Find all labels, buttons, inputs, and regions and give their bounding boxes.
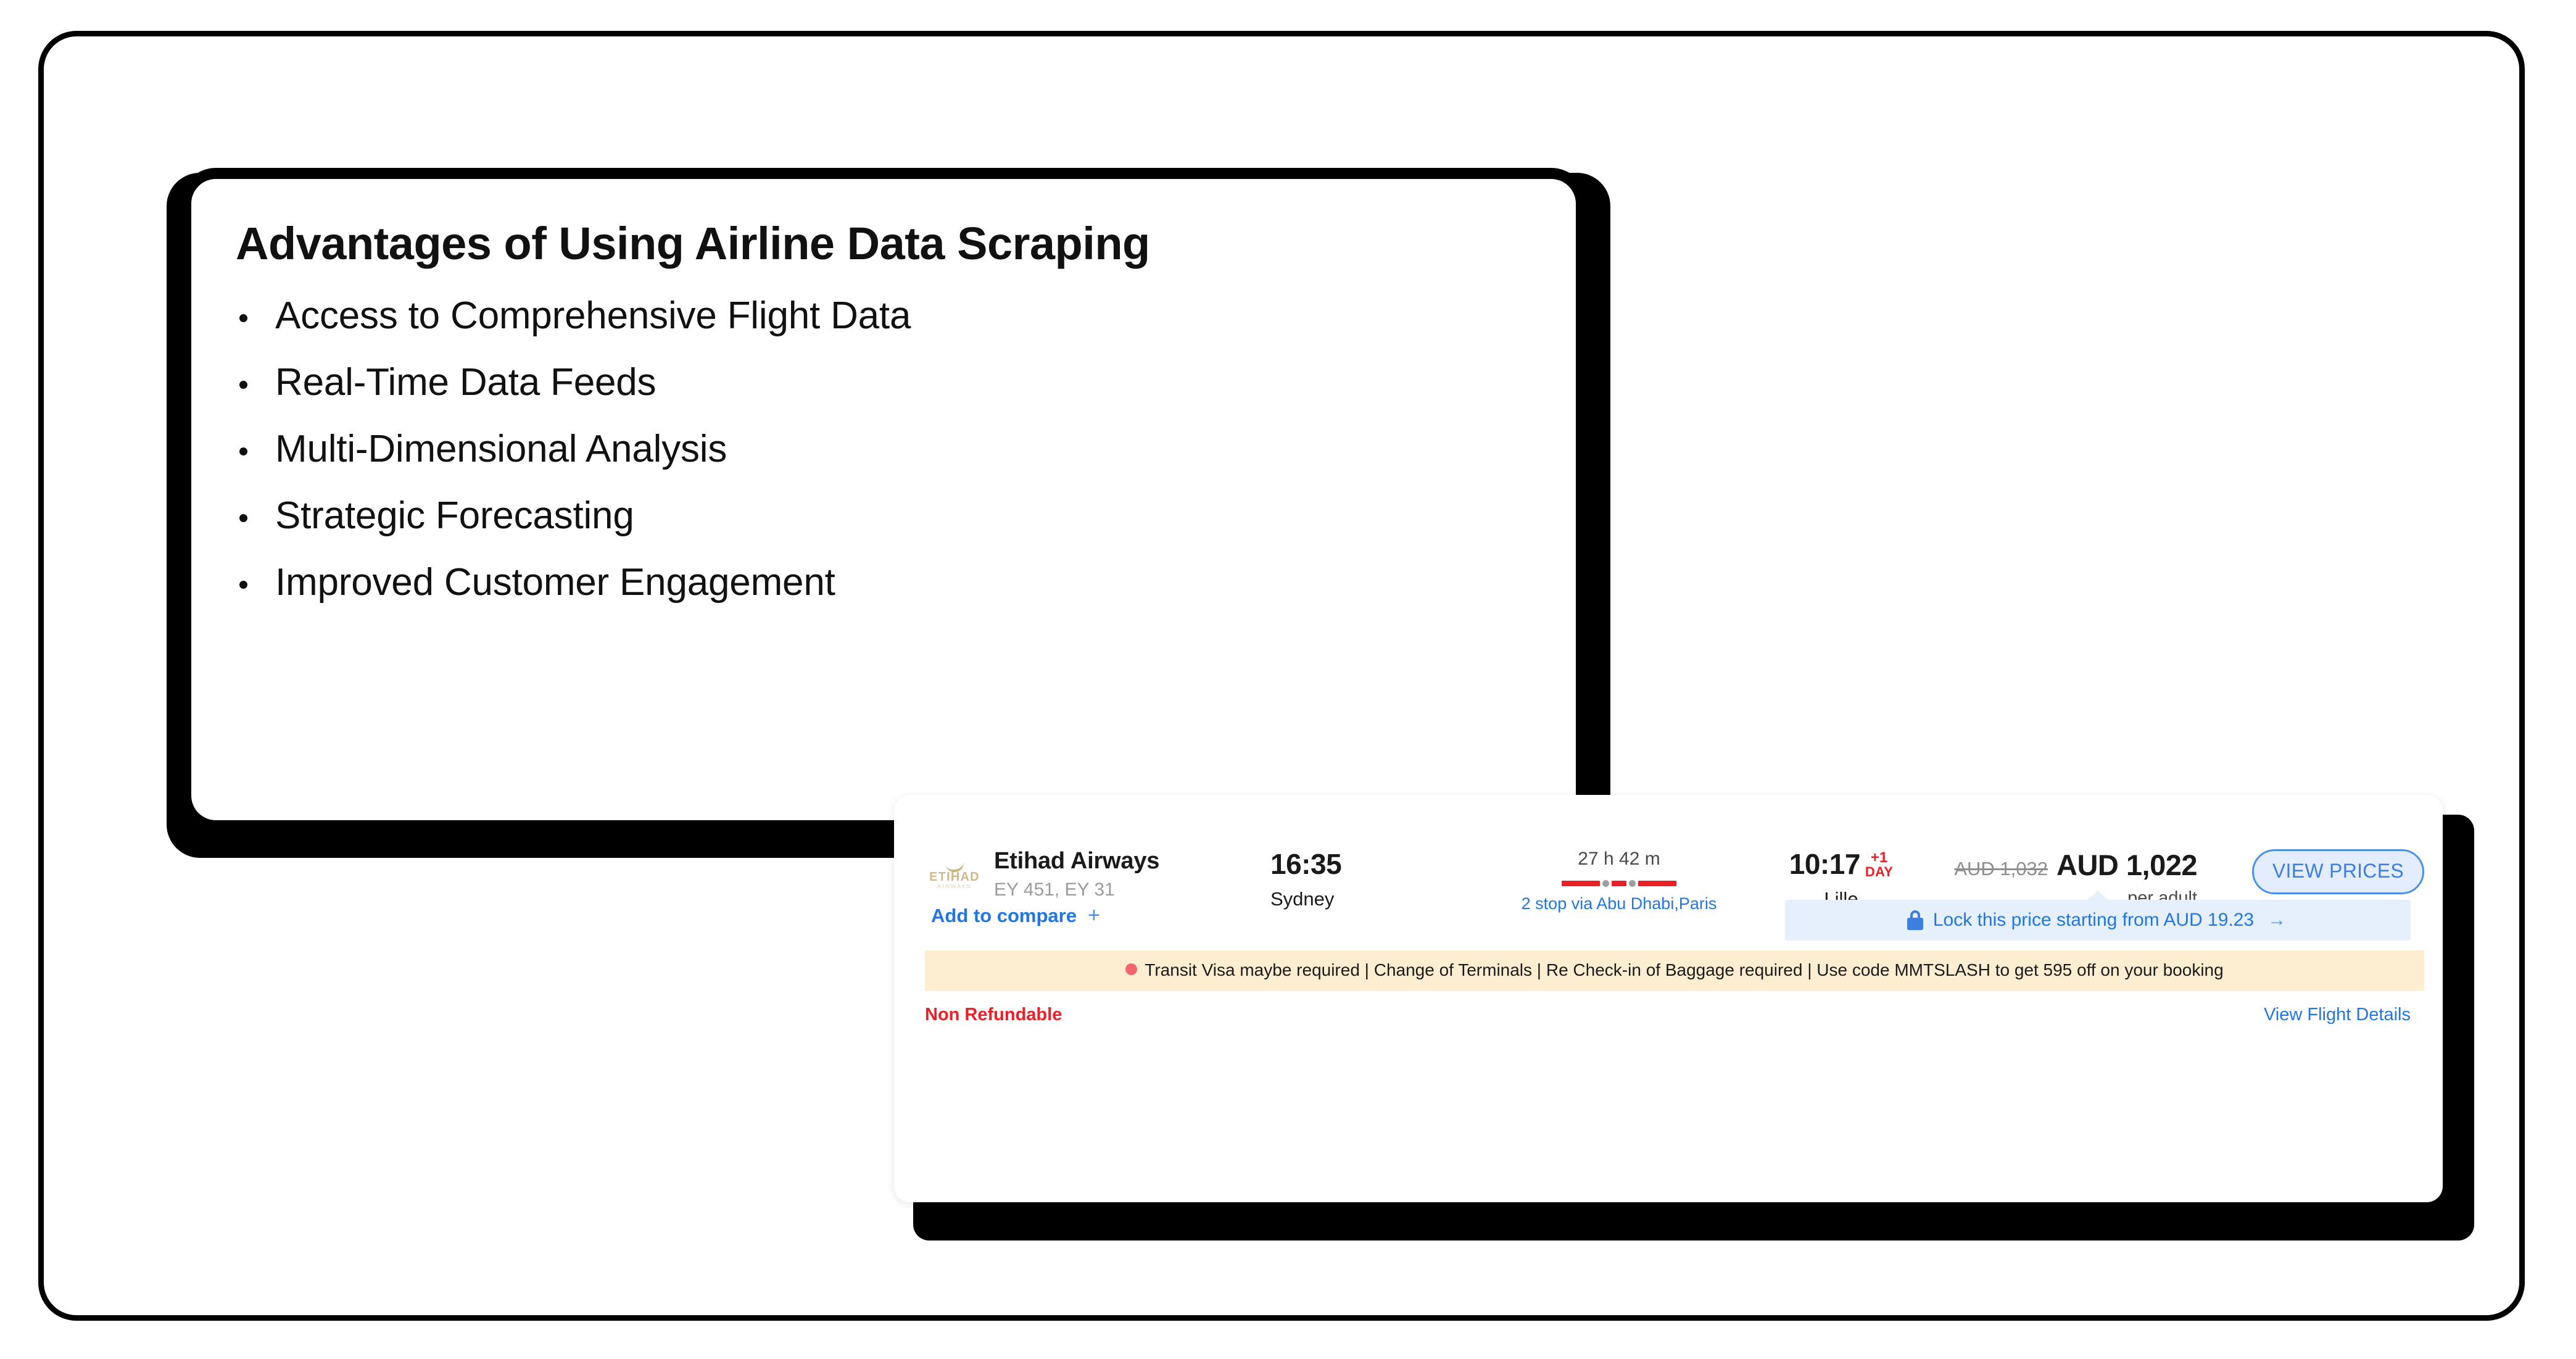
- arrival-time: 10:17: [1789, 849, 1860, 879]
- arrow-right-icon: →: [2267, 910, 2286, 931]
- notice-text: Transit Visa maybe required | Change of …: [1145, 960, 2223, 979]
- refund-status-badge: Non Refundable: [925, 1005, 1062, 1025]
- day-offset-label: DAY: [1865, 865, 1893, 879]
- list-item: Improved Customer Engagement: [234, 563, 1533, 602]
- lock-icon: [1907, 910, 1923, 930]
- airline-name: Etihad Airways: [994, 848, 1159, 875]
- add-to-compare-button[interactable]: Add to compare+: [931, 900, 1100, 928]
- original-price: AUD 1,032: [1954, 858, 2048, 880]
- flight-notice-bar: Transit Visa maybe required | Change of …: [925, 950, 2424, 991]
- add-to-compare-label: Add to compare: [931, 905, 1077, 926]
- slide-canvas: Advantages of Using Airline Data Scrapin…: [0, 0, 2576, 1359]
- list-item: Multi-Dimensional Analysis: [234, 430, 1533, 468]
- plus-icon: +: [1088, 904, 1100, 927]
- current-price: AUD 1,022: [2056, 848, 2197, 882]
- flight-actions-row: Add to compare+ Lock this price starting…: [894, 881, 2443, 945]
- list-item: Real-Time Data Feeds: [234, 364, 1533, 402]
- advantages-list: Access to Comprehensive Flight Data Real…: [234, 297, 1533, 602]
- flight-duration: 27 h 42 m: [1474, 848, 1764, 870]
- flight-footer-row: Non Refundable View Flight Details: [894, 991, 2443, 1025]
- departure-time: 16:35: [1270, 849, 1456, 879]
- flight-summary-row: ETIHAD AIRWAYS Etihad Airways EY 451, EY…: [894, 795, 2443, 881]
- list-item: Strategic Forecasting: [234, 497, 1533, 535]
- lock-price-banner[interactable]: Lock this price starting from AUD 19.23 …: [1785, 900, 2411, 941]
- flight-result-card: ETIHAD AIRWAYS Etihad Airways EY 451, EY…: [894, 795, 2443, 1202]
- notice-dot-icon: [1125, 963, 1137, 975]
- list-item: Access to Comprehensive Flight Data: [234, 297, 1533, 335]
- page-title: Advantages of Using Airline Data Scrapin…: [236, 218, 1533, 268]
- day-offset-badge: +1 DAY: [1865, 850, 1893, 879]
- lock-price-text: Lock this price starting from AUD 19.23: [1933, 910, 2254, 931]
- view-flight-details-link[interactable]: View Flight Details: [2264, 1005, 2411, 1025]
- bullet-card: Advantages of Using Airline Data Scrapin…: [180, 168, 1587, 831]
- day-offset-value: +1: [1865, 850, 1893, 865]
